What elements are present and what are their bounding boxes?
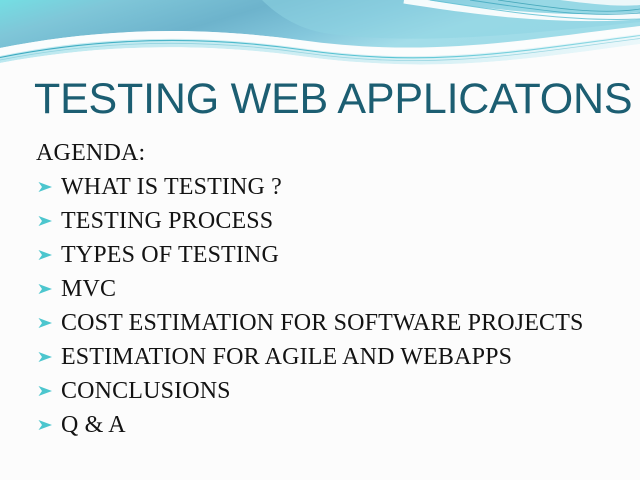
slide-body: AGENDA: WHAT IS TESTING ? TESTING PROCES… [36, 136, 626, 442]
banner-waves-graphic [0, 0, 640, 72]
list-item-label: CONCLUSIONS [61, 378, 231, 404]
arrowhead-bullet-icon [37, 272, 57, 306]
agenda-heading: AGENDA: [36, 136, 626, 170]
arrowhead-bullet-icon [37, 238, 57, 272]
decorative-header-banner [0, 0, 640, 72]
list-item-label: MVC [61, 276, 116, 302]
arrowhead-bullet-icon [37, 408, 57, 442]
presentation-slide: TESTING WEB APPLICATONS AGENDA: WHAT IS … [0, 0, 640, 480]
list-item-label: TYPES OF TESTING [61, 242, 279, 268]
arrowhead-bullet-icon [37, 306, 57, 340]
arrowhead-bullet-icon [37, 204, 57, 238]
list-item-label: ESTIMATION FOR AGILE AND WEBAPPS [61, 344, 512, 370]
list-item-label: COST ESTIMATION FOR SOFTWARE PROJECTS [61, 310, 584, 336]
list-item-label: TESTING PROCESS [61, 208, 273, 234]
agenda-list: WHAT IS TESTING ? TESTING PROCESS TYPES … [36, 170, 626, 442]
slide-title: TESTING WEB APPLICATONS [34, 74, 614, 124]
arrowhead-bullet-icon [37, 170, 57, 204]
arrowhead-bullet-icon [37, 340, 57, 374]
list-item-label: WHAT IS TESTING ? [61, 174, 282, 200]
list-item-label: Q & A [61, 412, 126, 438]
list-item: COST ESTIMATION FOR SOFTWARE PROJECTS [36, 306, 626, 340]
list-item: MVC [36, 272, 626, 306]
list-item: ESTIMATION FOR AGILE AND WEBAPPS [36, 340, 626, 374]
list-item: CONCLUSIONS [36, 374, 626, 408]
arrowhead-bullet-icon [37, 374, 57, 408]
list-item: Q & A [36, 408, 626, 442]
list-item: TYPES OF TESTING [36, 238, 626, 272]
list-item: WHAT IS TESTING ? [36, 170, 626, 204]
list-item: TESTING PROCESS [36, 204, 626, 238]
